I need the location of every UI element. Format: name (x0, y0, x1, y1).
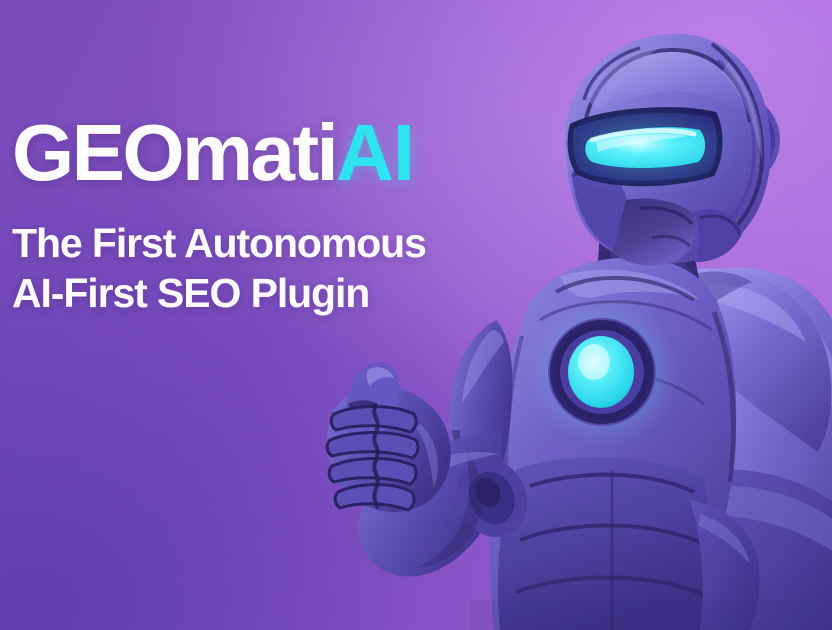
tagline-line-2: AI-First SEO Plugin (12, 268, 426, 318)
promo-banner: GEOmatiAI The First Autonomous AI-First … (0, 0, 832, 630)
tagline-line-1: The First Autonomous (12, 218, 426, 268)
brand-name-primary: GEOmati (12, 108, 336, 197)
copy-block: GEOmatiAI The First Autonomous AI-First … (12, 110, 426, 318)
page-title: GEOmatiAI (12, 110, 426, 196)
robot-chest-core (530, 298, 678, 446)
brand-name-accent: AI (336, 108, 414, 197)
tagline: The First Autonomous AI-First SEO Plugin (12, 218, 426, 318)
robot-thumbs-up-hand (327, 363, 451, 512)
